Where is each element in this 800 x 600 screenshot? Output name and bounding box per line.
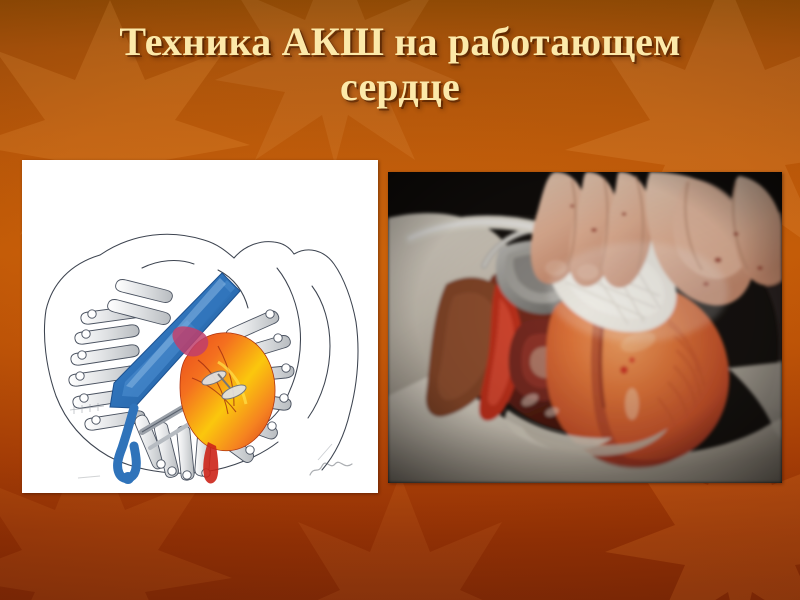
surgical-photo-image[interactable] — [388, 172, 782, 483]
medical-illustration-image[interactable] — [22, 160, 378, 493]
slide-title-line-1: Техника АКШ на работающем — [60, 20, 740, 65]
slide-title-line-2: сердце — [60, 65, 740, 110]
presentation-slide: Техника АКШ на работающем сердце — [0, 0, 800, 600]
slide-title: Техника АКШ на работающем сердце — [60, 20, 740, 110]
